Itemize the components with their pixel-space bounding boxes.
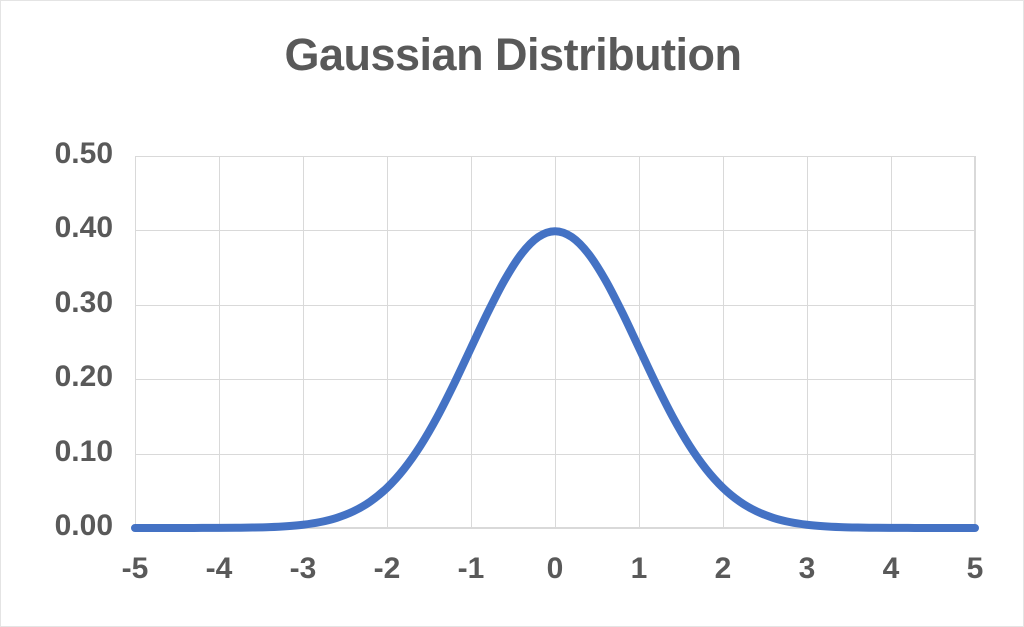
x-axis-tick-label: 1 xyxy=(597,552,681,586)
x-axis-tick-label: -4 xyxy=(177,552,261,586)
x-axis-tick-label: 5 xyxy=(933,552,1017,586)
x-axis-tick-label: 0 xyxy=(513,552,597,586)
x-axis-tick-label: 4 xyxy=(849,552,933,586)
y-axis-tick-label: 0.20 xyxy=(1,360,113,394)
x-axis-tick-label: -1 xyxy=(429,552,513,586)
x-axis-tick-label: -3 xyxy=(261,552,345,586)
x-axis-tick-label: 2 xyxy=(681,552,765,586)
gridline-vertical xyxy=(975,156,976,528)
y-axis-tick-label: 0.40 xyxy=(1,211,113,245)
x-axis-tick-label: 3 xyxy=(765,552,849,586)
y-axis-tick-label: 0.10 xyxy=(1,435,113,469)
series-line-gaussian-pdf xyxy=(135,156,975,528)
x-axis-tick-label: -5 xyxy=(93,552,177,586)
y-axis-tick-label: 0.00 xyxy=(1,509,113,543)
chart-frame: Gaussian Distribution 0.500.400.300.200.… xyxy=(0,0,1024,627)
y-axis-tick-label: 0.50 xyxy=(1,137,113,171)
plot-area xyxy=(135,156,975,528)
chart-title: Gaussian Distribution xyxy=(1,29,1024,81)
x-axis-tick-label: -2 xyxy=(345,552,429,586)
y-axis-tick-label: 0.30 xyxy=(1,286,113,320)
